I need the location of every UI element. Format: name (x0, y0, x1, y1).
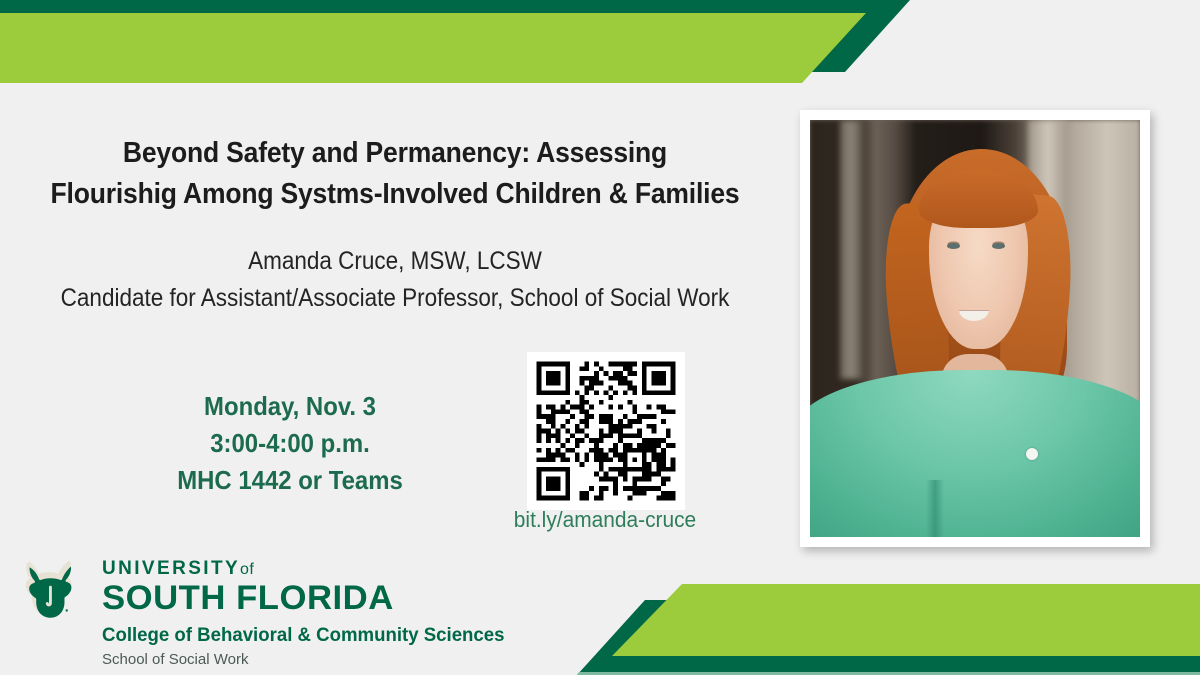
presenter-block: Amanda Cruce, MSW, LCSW Candidate for As… (40, 243, 751, 317)
presenter-role: Candidate for Assistant/Associate Profes… (40, 280, 751, 317)
event-flyer: Beyond Safety and Permanency: Assessing … (0, 0, 1200, 675)
title-line-2: Flourishig Among Systms-Involved Childre… (28, 174, 763, 215)
photo-shirt (810, 370, 1140, 537)
bottom-light-green-chevron (600, 584, 1200, 656)
event-date: Monday, Nov. 3 (74, 388, 506, 425)
qr-code-icon[interactable] (527, 352, 685, 510)
logo-college: College of Behavioral & Community Scienc… (102, 624, 505, 648)
logo-university-line: UNIVERSITYof (102, 558, 513, 581)
photo-shirt-placket (926, 480, 945, 537)
logo-state: SOUTH FLORIDA (102, 581, 521, 615)
page-title: Beyond Safety and Permanency: Assessing … (28, 133, 763, 215)
logo-university: UNIVERSITY (102, 558, 240, 579)
event-location: MHC 1442 or Teams (74, 462, 506, 499)
photo-pillar-left (840, 120, 863, 379)
usf-bull-icon (20, 560, 94, 622)
usf-logo-lockup: UNIVERSITYof SOUTH FLORIDA College of Be… (18, 558, 498, 668)
logo-of: of (240, 561, 254, 578)
title-line-1: Beyond Safety and Permanency: Assessing (28, 133, 763, 174)
photo-eye-left (947, 243, 960, 249)
presenter-name: Amanda Cruce, MSW, LCSW (40, 243, 751, 280)
photo-eye-right (992, 243, 1005, 249)
qr-code-canvas (527, 352, 685, 510)
photo-shirt-button (1026, 448, 1038, 460)
logo-school: School of Social Work (102, 650, 513, 669)
presenter-photo (810, 120, 1140, 537)
usf-logo-text: UNIVERSITYof SOUTH FLORIDA College of Be… (102, 558, 513, 669)
presenter-photo-frame (800, 110, 1150, 547)
qr-link-text[interactable]: bit.ly/amanda-cruce (472, 507, 738, 533)
event-details: Monday, Nov. 3 3:00-4:00 p.m. MHC 1442 o… (74, 388, 506, 499)
event-time: 3:00-4:00 p.m. (74, 425, 506, 462)
